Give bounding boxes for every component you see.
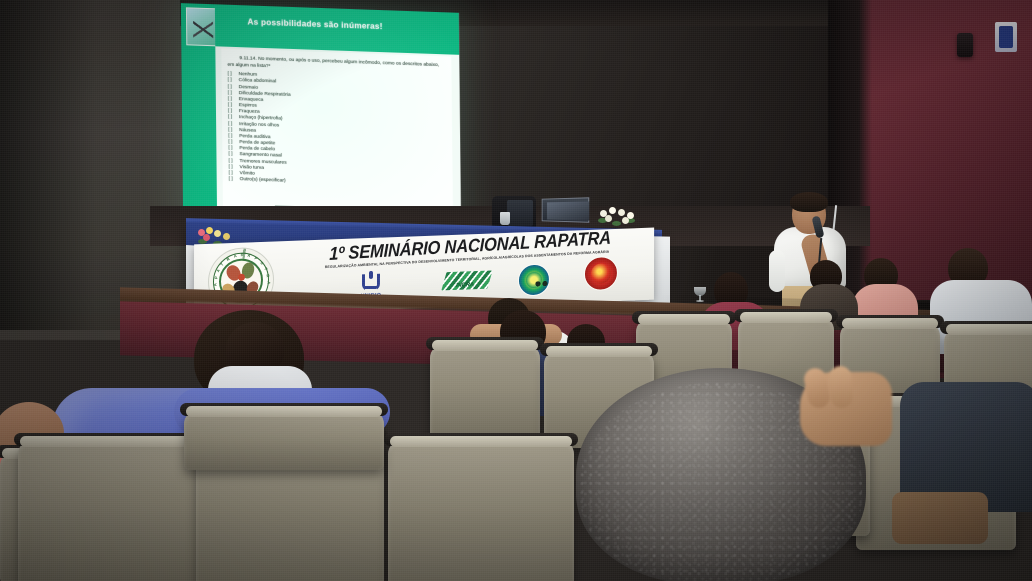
rapatra-ring-letter: R bbox=[266, 273, 271, 277]
slide-option-label: Nenhum bbox=[239, 72, 258, 78]
photo-canvas: As possibilidades são inúmeras! 9.11.14.… bbox=[0, 0, 1032, 581]
left-wall-shadow bbox=[0, 0, 96, 330]
projected-slide: As possibilidades são inúmeras! 9.11.14.… bbox=[181, 3, 461, 229]
wall-sign-inner bbox=[999, 26, 1013, 48]
seat[interactable] bbox=[430, 344, 540, 440]
slide-option-label: Espirros bbox=[239, 103, 257, 109]
slide-body: 9.11.14. No momento, ou após o uso, perc… bbox=[221, 49, 453, 215]
dark-jacket-man-right bbox=[900, 372, 1032, 502]
incra-logo: INCRA bbox=[444, 271, 490, 299]
slide-option-label: Enxaqueca bbox=[239, 97, 264, 103]
rapatra-ring-letter: P bbox=[213, 275, 218, 278]
rapatra-ring-letter: A bbox=[212, 283, 217, 286]
seat[interactable] bbox=[18, 440, 198, 581]
flower-arrangement-right bbox=[596, 206, 642, 228]
shoe bbox=[892, 492, 988, 544]
slide-option-label: Vômito bbox=[240, 171, 255, 177]
rapatra-ring-letter: A bbox=[266, 281, 271, 284]
slide-option-label: Náusea bbox=[239, 128, 256, 134]
rapatra-ring-letter: R bbox=[241, 252, 244, 257]
wall-speaker-icon bbox=[957, 33, 973, 57]
slide-option-label: Outro(s) (especificar) bbox=[240, 177, 286, 184]
slide-option-label: Perda auditiva bbox=[239, 134, 270, 140]
rapatra-ring-letter: A bbox=[233, 253, 237, 259]
seat-backrest[interactable] bbox=[184, 410, 384, 470]
slide-option-label: Fraqueza bbox=[239, 109, 260, 115]
red-emblem-logo bbox=[584, 256, 618, 291]
monitor bbox=[507, 200, 533, 226]
slide-option-label: Desmaio bbox=[239, 85, 258, 91]
seat[interactable] bbox=[388, 440, 574, 581]
incra-logo-label: INCRA bbox=[456, 282, 474, 289]
cup bbox=[500, 212, 510, 225]
slide-options-list: [ ]Nenhum[ ]Cólica abdominal[ ]Desmaio[ … bbox=[228, 72, 445, 191]
checkbox-icon: [ ] bbox=[229, 177, 240, 184]
conab-logo bbox=[518, 263, 550, 296]
slide-option-label: Visão turva bbox=[240, 165, 264, 171]
laptop bbox=[538, 198, 590, 226]
slide-option-label: Cólica abdominal bbox=[239, 79, 277, 85]
